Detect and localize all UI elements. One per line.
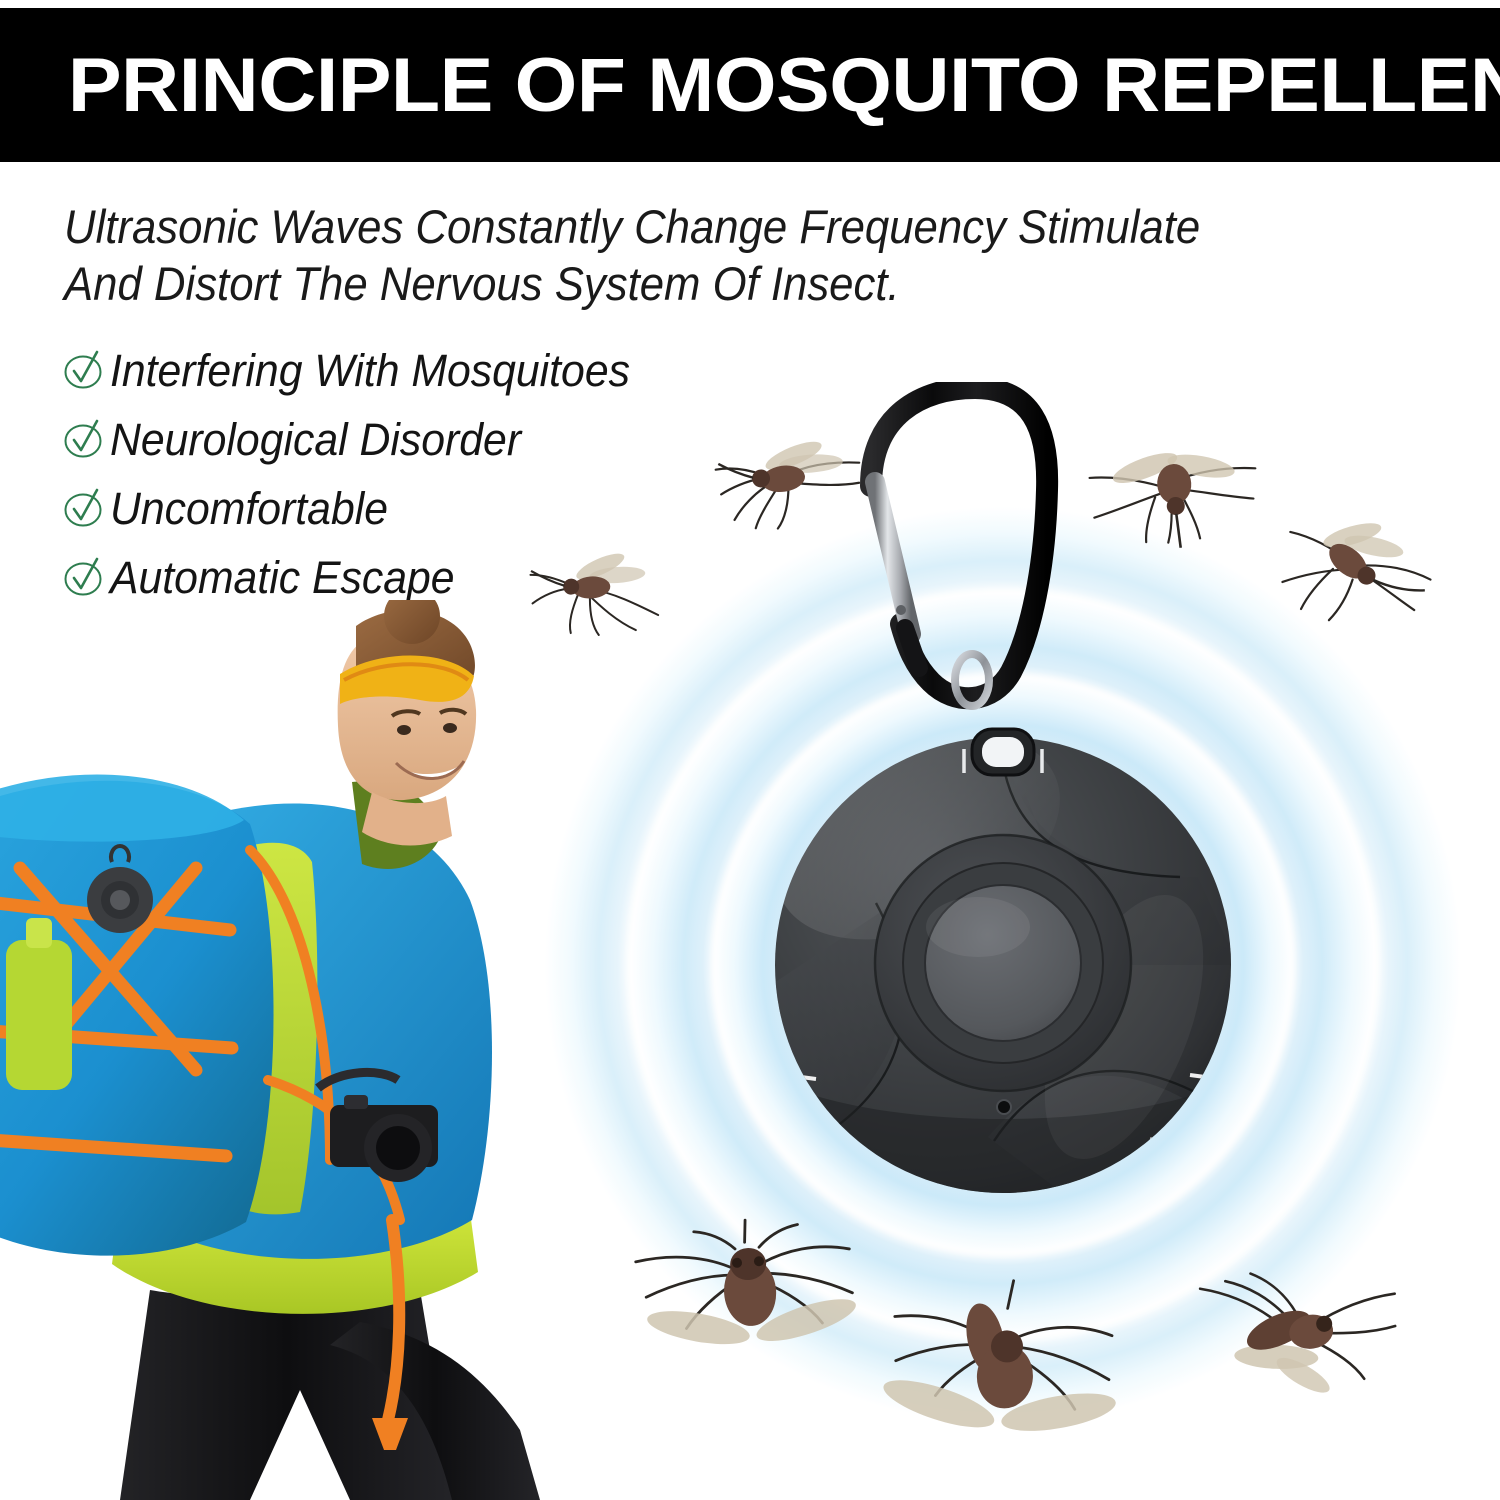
mosquito [519,531,672,650]
list-item-label: Uncomfortable [110,483,388,535]
mosquito [859,1271,1142,1479]
page-title: PRINCIPLE OF MOSQUITO REPELLENT [0,42,1500,129]
mosquito [1186,1255,1435,1436]
header-banner: PRINCIPLE OF MOSQUITO REPELLENT [0,8,1500,162]
list-item-label: Interfering With Mosquitoes [110,345,630,397]
subtitle-text: Ultrasonic Waves Constantly Change Frequ… [64,198,1366,312]
lifestyle-photo [0,600,560,1500]
repellent-device [768,727,1238,1197]
list-item-label: Automatic Escape [110,552,455,604]
check-circle-icon [62,349,106,393]
check-circle-icon [62,487,106,531]
list-item: Interfering With Mosquitoes [62,340,822,402]
infographic-page: PRINCIPLE OF MOSQUITO REPELLENT Ultrason… [0,0,1500,1500]
mosquito [1081,424,1270,566]
list-item-label: Neurological Disorder [110,414,521,466]
carabiner-clip [835,382,1065,712]
check-circle-icon [62,556,106,600]
mosquito [619,1211,880,1398]
mosquito [700,417,871,543]
check-circle-icon [62,418,106,462]
water-bottle [6,918,72,1090]
product-scene [505,430,1500,1500]
backpack-lid [0,774,244,841]
